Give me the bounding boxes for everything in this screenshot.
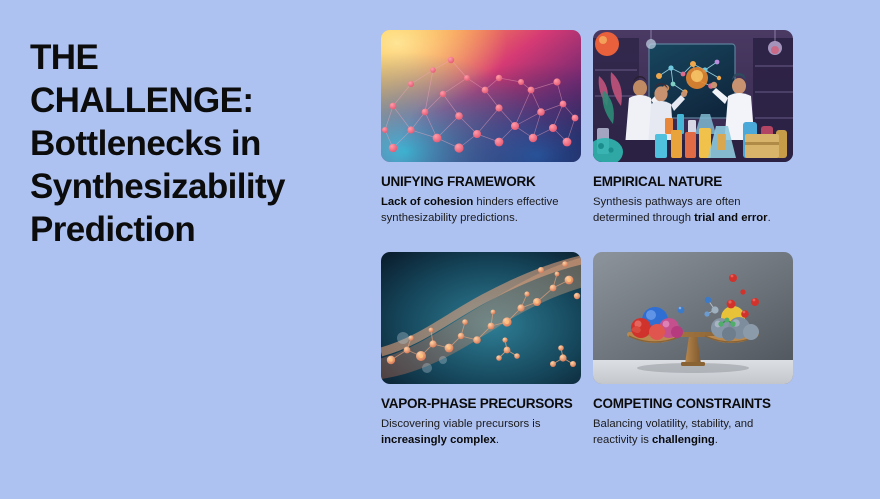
title-line-3: Bottlenecks in xyxy=(30,122,350,165)
balance-scale-molecules-image xyxy=(593,252,793,384)
card-body-post: . xyxy=(768,212,771,224)
card-body-pre: Discovering viable precursors is xyxy=(381,418,540,430)
title-line-5: Prediction xyxy=(30,208,350,251)
card-competing-constraints[interactable]: COMPETING CONSTRAINTS Balancing volatili… xyxy=(593,252,793,464)
card-vapor-phase-precursors[interactable]: VAPOR-PHASE PRECURSORS Discovering viabl… xyxy=(381,252,581,464)
card-body: Synthesis pathways are often determined … xyxy=(593,195,789,226)
challenge-card-grid: UNIFYING FRAMEWORK Lack of cohesion hind… xyxy=(381,30,793,470)
card-body: Discovering viable precursors is increas… xyxy=(381,417,577,448)
card-body-emphasis: Lack of cohesion xyxy=(381,196,473,208)
card-body: Balancing volatility, stability, and rea… xyxy=(593,417,789,448)
title-line-4: Synthesizability xyxy=(30,165,350,208)
card-empirical-nature[interactable]: EMPIRICAL NATURE Synthesis pathways are … xyxy=(593,30,793,242)
page-title: THE CHALLENGE: Bottlenecks in Synthesiza… xyxy=(30,36,350,251)
title-line-2: CHALLENGE: xyxy=(30,79,350,122)
card-body-post: . xyxy=(715,434,718,446)
card-body-emphasis: increasingly complex xyxy=(381,434,496,446)
illustrated-laboratory-scene-image xyxy=(593,30,793,162)
card-body-emphasis: challenging xyxy=(652,434,715,446)
card-heading: EMPIRICAL NATURE xyxy=(593,174,793,190)
molecular-network-gradient-image xyxy=(381,30,581,162)
card-body-emphasis: trial and error xyxy=(694,212,767,224)
vapor-phase-molecular-stream-image xyxy=(381,252,581,384)
card-heading: VAPOR-PHASE PRECURSORS xyxy=(381,396,581,412)
card-body: Lack of cohesion hinders effective synth… xyxy=(381,195,577,226)
card-heading: UNIFYING FRAMEWORK xyxy=(381,174,581,190)
card-heading: COMPETING CONSTRAINTS xyxy=(593,396,793,412)
card-unifying-framework[interactable]: UNIFYING FRAMEWORK Lack of cohesion hind… xyxy=(381,30,581,242)
card-body-post: . xyxy=(496,434,499,446)
title-line-1: THE xyxy=(30,36,350,79)
